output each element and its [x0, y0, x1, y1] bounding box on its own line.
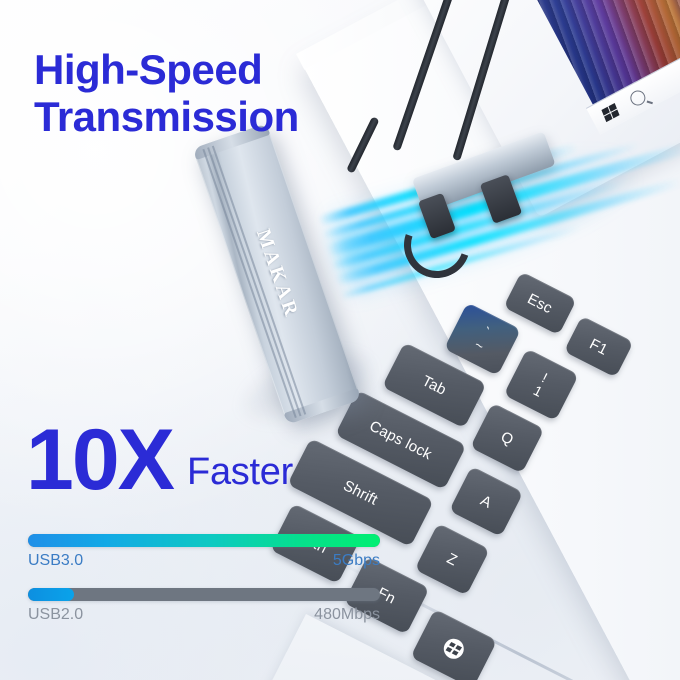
speed-bar-usb2-0: USB2.0480Mbps: [28, 588, 380, 624]
key-windows[interactable]: [410, 609, 497, 680]
key-label: Shrift: [341, 477, 381, 509]
key-f1[interactable]: F1: [564, 316, 634, 378]
key-label: Z: [444, 550, 460, 569]
speed-bar-usb3-0: USB3.05Gbps: [28, 534, 380, 570]
hero-claim: 10X Faster: [26, 424, 293, 497]
key-label: Tab: [419, 372, 449, 398]
key-label: `~: [472, 324, 493, 354]
search-icon[interactable]: [628, 88, 648, 108]
bar-speed-value: 480Mbps: [314, 606, 380, 624]
bar-fill: [28, 534, 380, 547]
key-label: Caps lock: [367, 417, 435, 463]
key--[interactable]: `~: [444, 302, 521, 376]
bar-track: [28, 534, 380, 547]
page-title: High-Speed Transmission: [34, 46, 299, 140]
bar-standard-name: USB3.0: [28, 552, 83, 570]
key-a[interactable]: A: [449, 466, 523, 537]
bar-track: [28, 588, 380, 601]
key-q[interactable]: Q: [470, 403, 544, 474]
key-label: Esc: [525, 290, 556, 317]
speed-multiplier: 10X: [26, 424, 173, 497]
windows-logo-icon[interactable]: [601, 103, 619, 122]
bar-speed-value: 5Gbps: [333, 552, 380, 570]
bar-fill: [28, 588, 74, 601]
bar-labels: USB2.0480Mbps: [28, 606, 380, 624]
speed-qualifier: Faster: [187, 453, 293, 497]
key-1[interactable]: !1: [504, 348, 579, 421]
windows-logo-icon: [440, 635, 467, 662]
key-label: A: [478, 492, 495, 512]
key-label: !1: [531, 370, 551, 400]
brand-logo-text: MAKAR: [251, 226, 303, 321]
key-label: F1: [587, 335, 611, 358]
bar-labels: USB3.05Gbps: [28, 552, 380, 570]
product-marketing-banner: EscF1`~!1TabQCaps lockAShriftZCtrlFn MAK…: [0, 0, 680, 680]
key-label: Q: [498, 428, 516, 449]
key-z[interactable]: Z: [415, 523, 490, 596]
speed-comparison-bars: USB3.05GbpsUSB2.0480Mbps: [28, 534, 380, 642]
bar-standard-name: USB2.0: [28, 606, 83, 624]
